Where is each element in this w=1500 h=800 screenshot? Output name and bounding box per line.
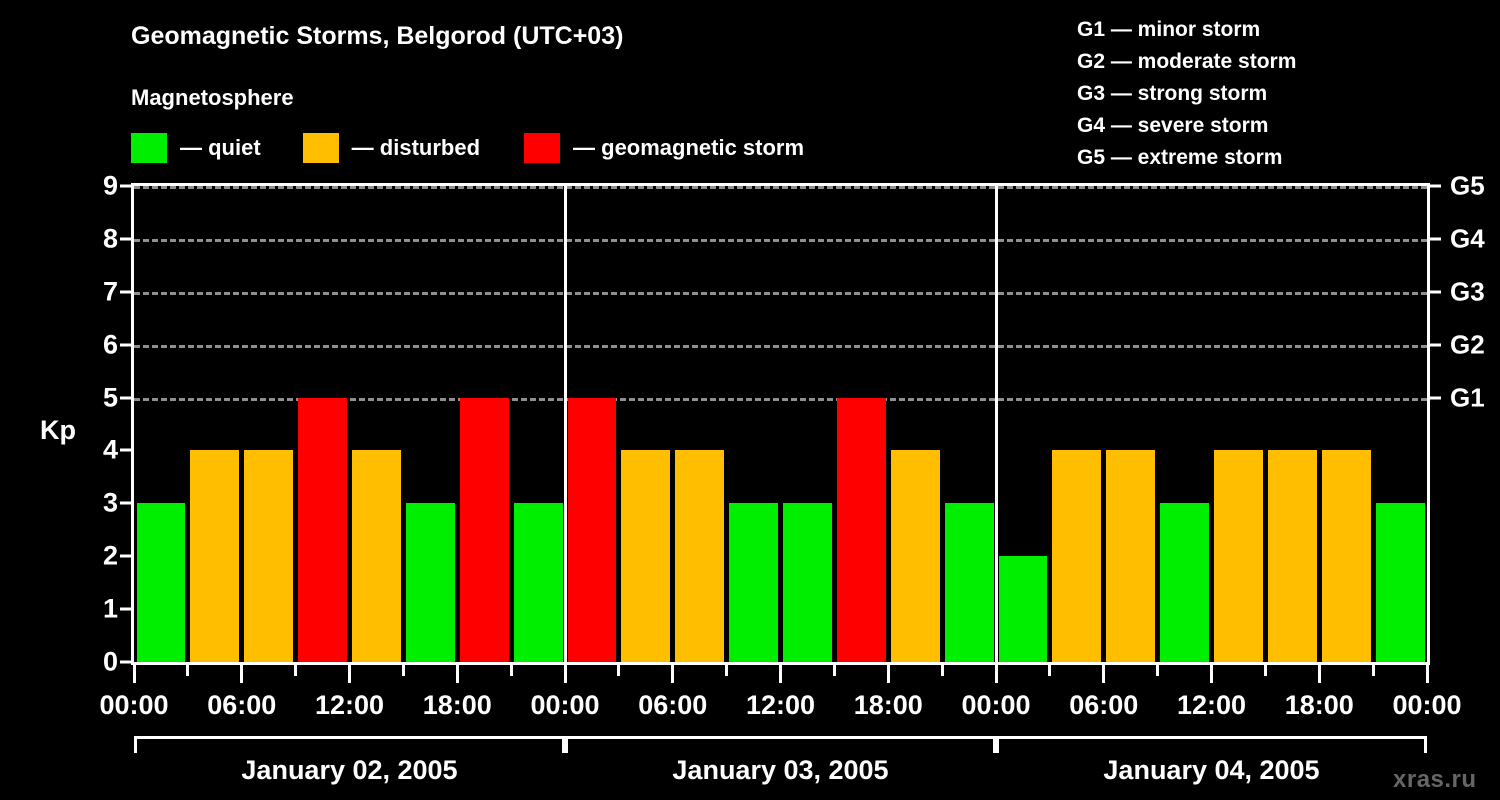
gscale-key-line-g3: G3 — strong storm xyxy=(1077,78,1296,110)
x-tick-mark xyxy=(725,665,728,676)
g-tick-mark-g1 xyxy=(1430,396,1441,399)
gscale-key: G1 — minor storm G2 — moderate storm G3 … xyxy=(1077,14,1296,174)
x-tick-label: 12:00 xyxy=(746,690,815,721)
y-tick-mark-4 xyxy=(120,449,131,452)
y-tick-mark-0 xyxy=(120,661,131,664)
x-tick-label: 06:00 xyxy=(638,690,707,721)
y-tick-label-5: 5 xyxy=(78,382,118,413)
bar[interactable] xyxy=(837,398,886,662)
day-label: January 03, 2005 xyxy=(672,755,888,786)
gridline-kp-9 xyxy=(134,186,1427,189)
bar[interactable] xyxy=(783,503,832,662)
chart-subtitle: Magnetosphere xyxy=(131,85,294,111)
x-tick-label: 12:00 xyxy=(315,690,384,721)
bar[interactable] xyxy=(1268,450,1317,662)
bar[interactable] xyxy=(1376,503,1425,662)
x-tick-label: 18:00 xyxy=(423,690,492,721)
legend-label-storm: — geomagnetic storm xyxy=(573,135,804,161)
bar[interactable] xyxy=(675,450,724,662)
x-tick-mark xyxy=(1372,665,1375,676)
g-tick-label-g3: G3 xyxy=(1450,276,1485,307)
bar[interactable] xyxy=(621,450,670,662)
x-tick-label: 12:00 xyxy=(1177,690,1246,721)
x-tick-label: 06:00 xyxy=(207,690,276,721)
y-axis-title: Kp xyxy=(40,415,76,446)
x-tick-mark xyxy=(941,665,944,676)
x-tick-mark xyxy=(510,665,513,676)
plot-area xyxy=(131,183,1430,665)
x-tick-mark xyxy=(133,665,136,683)
bar[interactable] xyxy=(460,398,509,662)
bar[interactable] xyxy=(945,503,994,662)
watermark: xras.ru xyxy=(1393,766,1477,794)
g-tick-label-g2: G2 xyxy=(1450,329,1485,360)
x-tick-mark xyxy=(671,665,674,683)
y-tick-mark-9 xyxy=(120,185,131,188)
legend-swatch-disturbed xyxy=(303,133,339,163)
bar[interactable] xyxy=(298,398,347,662)
day-bracket xyxy=(565,736,996,753)
gridline-kp-6 xyxy=(134,345,1427,348)
y-tick-label-3: 3 xyxy=(78,488,118,519)
y-tick-mark-7 xyxy=(120,290,131,293)
y-tick-mark-3 xyxy=(120,502,131,505)
bar[interactable] xyxy=(1322,450,1371,662)
y-tick-label-2: 2 xyxy=(78,541,118,572)
day-bracket xyxy=(134,736,565,753)
y-tick-label-9: 9 xyxy=(78,171,118,202)
gscale-key-line-g1: G1 — minor storm xyxy=(1077,14,1296,46)
g-tick-mark-g5 xyxy=(1430,185,1441,188)
legend-item-disturbed: — disturbed xyxy=(303,133,480,163)
y-tick-label-0: 0 xyxy=(78,647,118,678)
x-tick-mark xyxy=(456,665,459,683)
x-tick-label: 00:00 xyxy=(1392,690,1461,721)
x-tick-mark xyxy=(564,665,567,683)
legend-label-disturbed: — disturbed xyxy=(352,135,480,161)
x-tick-mark xyxy=(402,665,405,676)
bar[interactable] xyxy=(1106,450,1155,662)
y-tick-label-8: 8 xyxy=(78,223,118,254)
bar[interactable] xyxy=(514,503,563,662)
y-tick-mark-2 xyxy=(120,555,131,558)
bar[interactable] xyxy=(137,503,186,662)
g-tick-mark-g4 xyxy=(1430,237,1441,240)
bar[interactable] xyxy=(891,450,940,662)
x-tick-mark xyxy=(833,665,836,676)
legend: — quiet — disturbed — geomagnetic storm xyxy=(131,133,804,163)
x-tick-label: 00:00 xyxy=(99,690,168,721)
bar[interactable] xyxy=(1160,503,1209,662)
bar[interactable] xyxy=(1214,450,1263,662)
gscale-key-line-g5: G5 — extreme storm xyxy=(1077,142,1296,174)
page-title: Geomagnetic Storms, Belgorod (UTC+03) xyxy=(131,22,623,51)
day-label: January 04, 2005 xyxy=(1103,755,1319,786)
y-tick-mark-8 xyxy=(120,237,131,240)
y-tick-mark-1 xyxy=(120,608,131,611)
x-tick-label: 18:00 xyxy=(854,690,923,721)
plot-inner xyxy=(134,186,1427,662)
x-tick-label: 00:00 xyxy=(530,690,599,721)
y-tick-label-4: 4 xyxy=(78,435,118,466)
x-tick-mark xyxy=(1048,665,1051,676)
y-tick-label-6: 6 xyxy=(78,329,118,360)
bar[interactable] xyxy=(406,503,455,662)
x-tick-mark xyxy=(1426,665,1429,683)
x-tick-mark xyxy=(1264,665,1267,676)
x-tick-mark xyxy=(617,665,620,676)
day-separator xyxy=(564,186,567,662)
x-tick-label: 06:00 xyxy=(1069,690,1138,721)
gscale-key-line-g2: G2 — moderate storm xyxy=(1077,46,1296,78)
x-tick-mark xyxy=(779,665,782,683)
legend-label-quiet: — quiet xyxy=(180,135,261,161)
bar[interactable] xyxy=(352,450,401,662)
day-bracket xyxy=(996,736,1427,753)
x-tick-label: 00:00 xyxy=(961,690,1030,721)
g-tick-label-g1: G1 xyxy=(1450,382,1485,413)
x-tick-mark xyxy=(995,665,998,683)
x-tick-mark xyxy=(1156,665,1159,676)
g-tick-mark-g2 xyxy=(1430,343,1441,346)
g-tick-label-g5: G5 xyxy=(1450,171,1485,202)
g-tick-mark-g3 xyxy=(1430,290,1441,293)
bar[interactable] xyxy=(999,556,1048,662)
x-tick-mark xyxy=(1318,665,1321,683)
bar[interactable] xyxy=(244,450,293,662)
bar[interactable] xyxy=(190,450,239,662)
legend-item-quiet: — quiet xyxy=(131,133,261,163)
x-tick-mark xyxy=(240,665,243,683)
y-tick-mark-5 xyxy=(120,396,131,399)
x-tick-mark xyxy=(186,665,189,676)
gridline-kp-7 xyxy=(134,292,1427,295)
legend-swatch-storm xyxy=(524,133,560,163)
y-tick-label-7: 7 xyxy=(78,276,118,307)
g-tick-label-g4: G4 xyxy=(1450,223,1485,254)
legend-swatch-quiet xyxy=(131,133,167,163)
gscale-key-line-g4: G4 — severe storm xyxy=(1077,110,1296,142)
legend-item-storm: — geomagnetic storm xyxy=(524,133,804,163)
bar[interactable] xyxy=(729,503,778,662)
day-label: January 02, 2005 xyxy=(241,755,457,786)
y-tick-label-1: 1 xyxy=(78,594,118,625)
x-tick-mark xyxy=(348,665,351,683)
x-tick-mark xyxy=(1102,665,1105,683)
x-tick-mark xyxy=(294,665,297,676)
x-tick-mark xyxy=(887,665,890,683)
x-tick-label: 18:00 xyxy=(1285,690,1354,721)
y-tick-mark-6 xyxy=(120,343,131,346)
gridline-kp-8 xyxy=(134,239,1427,242)
x-tick-mark xyxy=(1210,665,1213,683)
bar[interactable] xyxy=(568,398,617,662)
day-separator xyxy=(995,186,998,662)
bar[interactable] xyxy=(1052,450,1101,662)
